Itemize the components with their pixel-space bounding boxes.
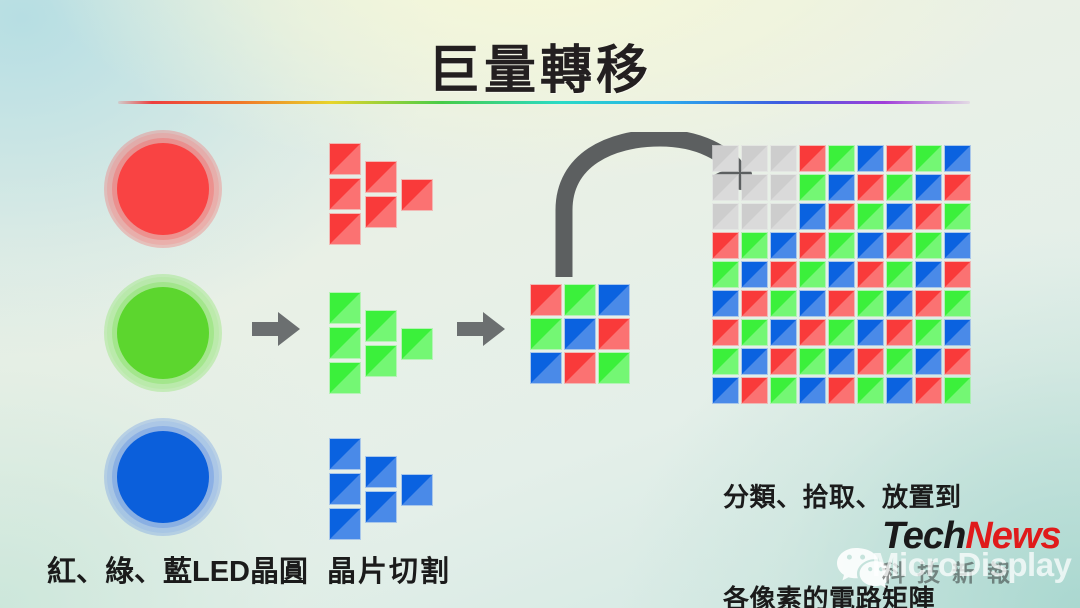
- mixed-rgb-chip-group: [531, 285, 629, 383]
- pixel-cell: [887, 175, 912, 200]
- pixel-cell: [800, 146, 825, 171]
- green-wafer-core: [117, 287, 209, 379]
- pixel-cell: [945, 204, 970, 229]
- pixel-cell: [771, 320, 796, 345]
- chip: [366, 346, 396, 376]
- pixel-cell: [829, 204, 854, 229]
- pixel-cell: [858, 291, 883, 316]
- chip: [565, 285, 595, 315]
- empty-pixel-cell: [713, 146, 738, 171]
- empty-pixel-cell: [771, 146, 796, 171]
- pixel-cell: [887, 233, 912, 258]
- chip: [330, 363, 360, 393]
- pixel-cell: [887, 291, 912, 316]
- pixel-cell: [945, 175, 970, 200]
- pixel-cell: [800, 262, 825, 287]
- pixel-cell: [713, 349, 738, 374]
- pixel-cell: [742, 233, 767, 258]
- chip: [366, 457, 396, 487]
- chip: [366, 197, 396, 227]
- pixel-cell: [713, 291, 738, 316]
- chip: [402, 329, 432, 359]
- pixel-circuit-matrix: [713, 146, 970, 403]
- chip: [366, 311, 396, 341]
- chip: [599, 319, 629, 349]
- pixel-cell: [887, 349, 912, 374]
- pixel-cell: [713, 378, 738, 403]
- pixel-cell: [858, 233, 883, 258]
- pixel-cell: [887, 320, 912, 345]
- red-chip-cluster: [330, 140, 434, 244]
- pixel-cell: [916, 320, 941, 345]
- pixel-cell: [742, 262, 767, 287]
- pixel-cell: [916, 175, 941, 200]
- chip: [330, 328, 360, 358]
- pixel-cell: [945, 349, 970, 374]
- chip: [330, 179, 360, 209]
- pixel-cell: [916, 204, 941, 229]
- pixel-cell: [916, 349, 941, 374]
- blue-wafer-core: [117, 431, 209, 523]
- empty-pixel-cell: [771, 204, 796, 229]
- microdisplay-watermark: MicroDisplay: [872, 546, 1071, 584]
- arrow-right-icon: [252, 312, 300, 346]
- brand-logo: 科技新報 TechNews MicroDisplay: [836, 516, 1072, 596]
- chip: [366, 492, 396, 522]
- pixel-cell: [916, 262, 941, 287]
- pixel-cell: [858, 378, 883, 403]
- chip: [330, 293, 360, 323]
- pixel-cell: [858, 349, 883, 374]
- green-chip-cluster: [330, 289, 434, 393]
- chip: [330, 474, 360, 504]
- chip: [565, 353, 595, 383]
- pixel-cell: [742, 378, 767, 403]
- dicing-stage-caption: 晶片切割: [327, 548, 451, 590]
- chip: [531, 319, 561, 349]
- chip: [531, 285, 561, 315]
- pixel-cell: [887, 146, 912, 171]
- pixel-cell: [858, 320, 883, 345]
- pixel-cell: [858, 146, 883, 171]
- pixel-cell: [887, 204, 912, 229]
- chip: [599, 353, 629, 383]
- pixel-cell: [713, 262, 738, 287]
- arrow-right-icon: [457, 312, 505, 346]
- pixel-cell: [945, 291, 970, 316]
- empty-pixel-cell: [713, 204, 738, 229]
- pixel-cell: [829, 233, 854, 258]
- chip: [599, 285, 629, 315]
- pixel-cell: [829, 291, 854, 316]
- red-wafer-core: [117, 143, 209, 235]
- pixel-cell: [829, 262, 854, 287]
- pixel-cell: [858, 175, 883, 200]
- pixel-cell: [800, 175, 825, 200]
- pixel-cell: [916, 146, 941, 171]
- pixel-cell: [713, 320, 738, 345]
- pixel-cell: [858, 262, 883, 287]
- pixel-cell: [771, 262, 796, 287]
- pixel-cell: [945, 378, 970, 403]
- pixel-cell: [945, 320, 970, 345]
- slide-canvas: 巨量轉移 紅、綠、藍LED晶圓 晶片切割 分類、拾取、放置到 各像素的電路矩陣: [0, 0, 1080, 608]
- pixel-cell: [829, 378, 854, 403]
- pixel-cell: [771, 291, 796, 316]
- pixel-cell: [800, 204, 825, 229]
- pixel-cell: [916, 291, 941, 316]
- pixel-cell: [829, 349, 854, 374]
- pixel-cell: [742, 349, 767, 374]
- chip: [330, 214, 360, 244]
- chip: [330, 439, 360, 469]
- pixel-cell: [887, 378, 912, 403]
- pixel-cell: [800, 291, 825, 316]
- pixel-cell: [887, 262, 912, 287]
- pixel-cell: [945, 262, 970, 287]
- wafer-stage-caption: 紅、綠、藍LED晶圓: [47, 548, 308, 590]
- pixel-cell: [800, 349, 825, 374]
- rainbow-divider: [118, 101, 970, 104]
- chip: [330, 509, 360, 539]
- blue-chip-cluster: [330, 435, 434, 539]
- pixel-cell: [829, 175, 854, 200]
- pixel-cell: [742, 320, 767, 345]
- pixel-cell: [771, 378, 796, 403]
- pixel-cell: [771, 349, 796, 374]
- empty-pixel-cell: [742, 204, 767, 229]
- pixel-cell: [800, 320, 825, 345]
- pixel-cell: [829, 146, 854, 171]
- pixel-cell: [916, 233, 941, 258]
- pixel-cell: [713, 233, 738, 258]
- chip: [531, 353, 561, 383]
- empty-pixel-cell: [742, 175, 767, 200]
- green-led-wafer: [104, 274, 222, 392]
- transfer-caption-line-1: 分類、拾取、放置到: [723, 480, 962, 514]
- pixel-cell: [800, 378, 825, 403]
- page-title: 巨量轉移: [0, 28, 1080, 103]
- pixel-cell: [858, 204, 883, 229]
- pixel-cell: [945, 146, 970, 171]
- chip: [366, 162, 396, 192]
- red-led-wafer: [104, 130, 222, 248]
- empty-pixel-cell: [742, 146, 767, 171]
- empty-pixel-cell: [771, 175, 796, 200]
- pixel-cell: [771, 233, 796, 258]
- chip: [402, 475, 432, 505]
- empty-pixel-cell: [713, 175, 738, 200]
- chip: [565, 319, 595, 349]
- chip: [330, 144, 360, 174]
- pixel-cell: [800, 233, 825, 258]
- blue-led-wafer: [104, 418, 222, 536]
- chip: [402, 180, 432, 210]
- pixel-cell: [945, 233, 970, 258]
- pixel-cell: [742, 291, 767, 316]
- pixel-cell: [829, 320, 854, 345]
- pixel-cell: [916, 378, 941, 403]
